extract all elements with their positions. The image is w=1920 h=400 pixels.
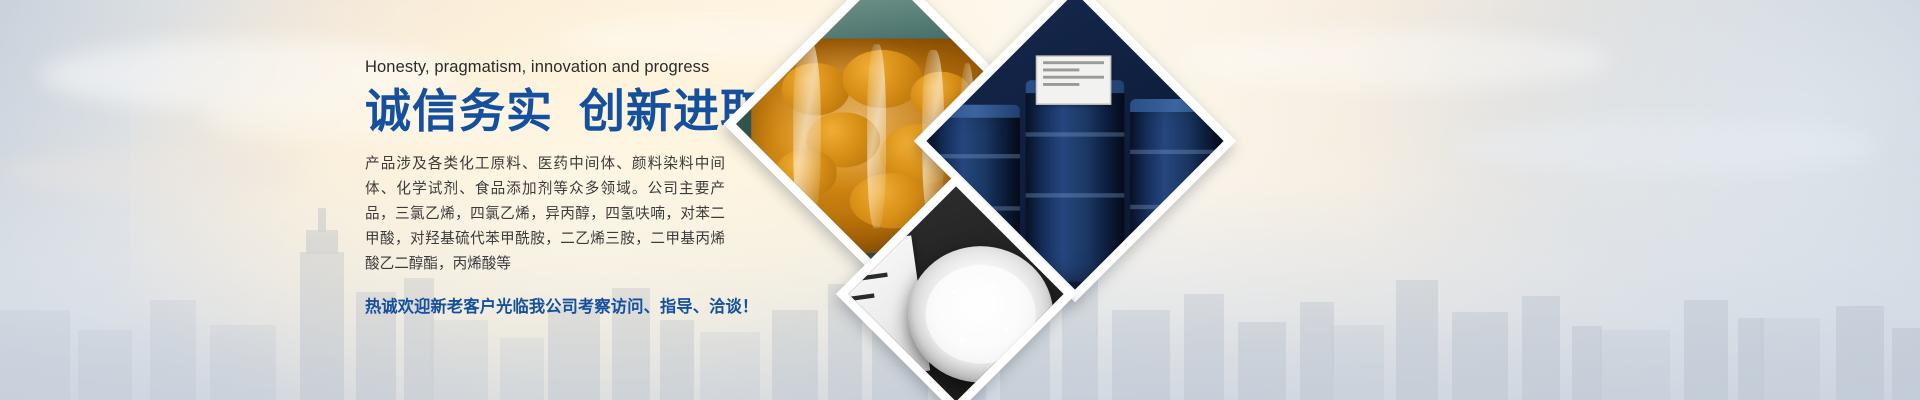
headline-chinese: 诚信务实创新进取 — [365, 86, 725, 138]
promo-banner: Honesty, pragmatism, innovation and prog… — [0, 0, 1920, 400]
headline-part-one: 诚信务实 — [365, 84, 553, 138]
body-copy: 产品涉及各类化工原料、医药中间体、颜料染料中间体、化学试剂、食品添加剂等众多领域… — [365, 151, 725, 276]
cta-welcome-text: 热诚欢迎新老客户光临我公司考察访问、指导、洽谈！ — [365, 293, 725, 317]
tagline-english: Honesty, pragmatism, innovation and prog… — [365, 58, 725, 78]
banner-text-block: Honesty, pragmatism, innovation and prog… — [365, 58, 725, 317]
